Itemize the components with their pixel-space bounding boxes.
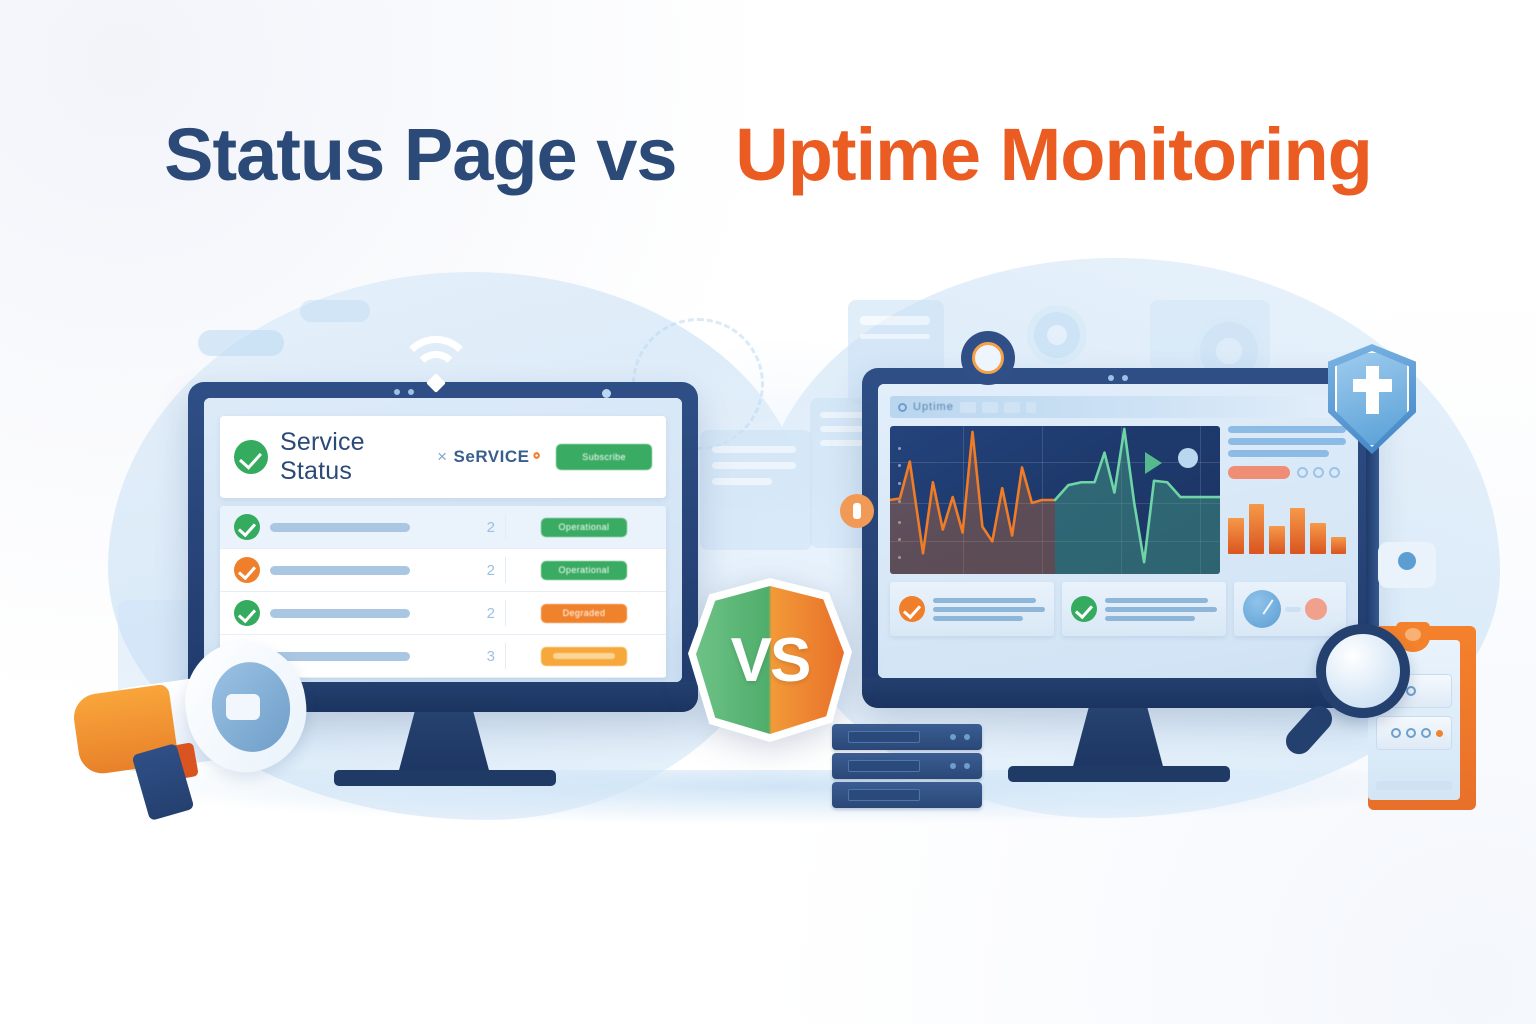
indicator-circle	[1297, 467, 1308, 478]
megaphone-knob	[226, 694, 260, 720]
server-led	[964, 763, 970, 769]
shield-cross-icon	[1328, 344, 1416, 454]
server-unit	[832, 753, 982, 779]
monitoring-dashboard-app: Uptime	[878, 384, 1358, 678]
rack-indicator	[1421, 728, 1431, 738]
cloud-silhouette-1	[198, 330, 284, 356]
dashboard-screen: Uptime	[878, 384, 1358, 678]
gauge-secondary-icon	[1305, 598, 1327, 620]
server-slot	[848, 760, 920, 772]
ground-shadow	[120, 770, 1440, 824]
page-title-right: Uptime Monitoring	[735, 113, 1372, 196]
topbar-block	[1026, 402, 1036, 413]
status-badge: Operational	[541, 518, 627, 537]
row-status-icon	[234, 600, 260, 626]
topbar-status-dot	[898, 403, 907, 412]
bar-item	[1269, 526, 1285, 554]
topbar-block	[960, 402, 976, 413]
vs-badge: VS	[688, 578, 852, 742]
service-logo: ×SeRVICE⚬	[437, 447, 544, 467]
logo-x-glyph: ×	[437, 447, 447, 466]
row-status-icon	[234, 557, 260, 583]
row-status-icon	[234, 514, 260, 540]
bezel-dot-right-2	[1122, 375, 1128, 381]
megaphone-icon	[62, 636, 312, 826]
gear-silhouette-1	[1034, 312, 1080, 358]
page-title-left: Status Page vs	[164, 113, 676, 196]
bar-item	[1331, 537, 1347, 554]
card-line	[933, 616, 1023, 621]
check-circle-icon	[899, 596, 925, 622]
illustration-canvas: Status Page vs Uptime Monitoring Service…	[0, 0, 1536, 1024]
chart-marker-dot	[1178, 448, 1198, 468]
topbar-block	[1004, 402, 1020, 413]
chart-series-svg	[890, 426, 1220, 574]
dashboard-title: Uptime	[913, 401, 954, 413]
indicator-circle	[1329, 467, 1340, 478]
server-led	[950, 734, 956, 740]
card-line	[1105, 616, 1195, 621]
row-count: 2	[469, 605, 495, 622]
side-indicator-group	[1297, 467, 1340, 478]
monitor-base-left	[334, 770, 556, 786]
server-stack-icon	[832, 724, 982, 808]
subscribe-button[interactable]: Subscribe	[556, 444, 652, 470]
table-row[interactable]: 2 Operational	[220, 506, 666, 549]
vs-badge-label: VS	[688, 578, 852, 742]
logo-text: SeRVICE	[454, 447, 530, 466]
bar-item	[1290, 508, 1306, 554]
row-divider	[505, 643, 506, 669]
dashboard-main	[890, 426, 1346, 574]
logo-orange-dot: ⚬	[529, 447, 544, 466]
side-alert-pill	[1228, 466, 1290, 479]
usage-bar-chart	[1228, 492, 1346, 554]
table-row[interactable]: 2 Operational	[220, 549, 666, 592]
server-unit	[832, 782, 982, 808]
row-count: 2	[469, 519, 495, 536]
play-triangle-icon	[1145, 452, 1162, 474]
status-badge	[541, 647, 627, 666]
server-slot	[848, 789, 920, 801]
status-card-warning[interactable]	[890, 582, 1054, 636]
gauge-connector	[1285, 607, 1301, 612]
user-badge-icon	[1378, 542, 1436, 588]
row-label-skeleton	[270, 566, 410, 575]
monitor-base-right	[1008, 766, 1230, 782]
status-page-heading: Service Status	[280, 428, 413, 486]
row-count: 2	[469, 562, 495, 579]
server-unit	[832, 724, 982, 750]
rack-footer-line	[1376, 781, 1452, 790]
background-doc-1	[700, 430, 812, 550]
row-divider	[505, 557, 506, 583]
server-slot	[848, 731, 920, 743]
rack-active-led	[1436, 730, 1443, 737]
card-line	[933, 607, 1045, 612]
response-time-chart	[890, 426, 1220, 574]
status-header-card: Service Status ×SeRVICE⚬ Subscribe	[220, 416, 666, 498]
status-card-ok[interactable]	[1062, 582, 1226, 636]
row-label-skeleton	[270, 609, 410, 618]
status-badge: Operational	[541, 561, 627, 580]
row-divider	[505, 600, 506, 626]
row-divider	[505, 514, 506, 540]
side-text-line	[1228, 450, 1329, 457]
gear-badge-icon	[966, 336, 1010, 380]
table-row[interactable]: 2 Degraded	[220, 592, 666, 635]
bezel-dot-right-1	[1108, 375, 1114, 381]
dashboard-topbar: Uptime	[890, 396, 1346, 418]
card-line	[1105, 598, 1208, 603]
bezel-dot-left-3	[602, 389, 611, 398]
page-title: Status Page vs Uptime Monitoring	[0, 118, 1536, 192]
server-led	[950, 763, 956, 769]
status-badge: Degraded	[541, 604, 627, 623]
gauge-icon	[1243, 590, 1281, 628]
check-circle-icon	[1071, 596, 1097, 622]
card-line	[1105, 607, 1217, 612]
bar-item	[1310, 523, 1326, 554]
bar-item	[1249, 504, 1265, 554]
magnifier-lens	[1316, 624, 1410, 718]
card-text-lines	[933, 598, 1045, 621]
bar-item	[1228, 518, 1244, 554]
row-label-skeleton	[270, 523, 410, 532]
card-line	[933, 598, 1036, 603]
topbar-block	[982, 402, 998, 413]
magnifying-glass-icon	[1296, 624, 1416, 754]
server-led	[964, 734, 970, 740]
cloud-silhouette-2	[300, 300, 370, 322]
indicator-circle	[1313, 467, 1324, 478]
card-text-lines	[1105, 598, 1217, 621]
row-count: 3	[469, 648, 495, 665]
wifi-icon	[398, 336, 474, 394]
shield-cross-horizontal	[1353, 379, 1392, 392]
status-ok-icon	[234, 440, 268, 474]
dashboard-card-row	[890, 582, 1346, 636]
lock-badge-icon	[840, 494, 874, 528]
